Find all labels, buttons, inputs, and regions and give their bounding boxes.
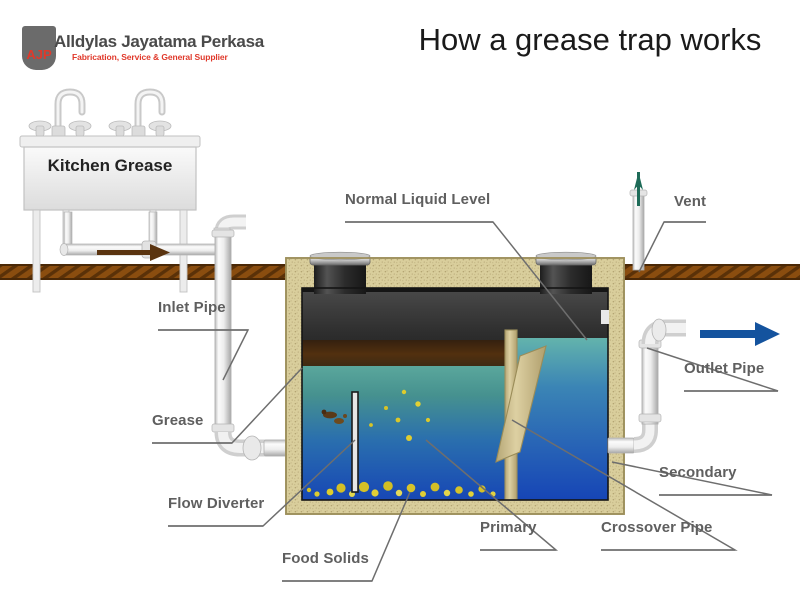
label-normal-liquid-level: Normal Liquid Level — [345, 192, 490, 207]
label-secondary: Secondary — [659, 465, 737, 480]
outlet-flow-arrow — [700, 322, 780, 346]
label-vent: Vent — [674, 194, 706, 209]
label-primary: Primary — [480, 520, 537, 535]
faucet-right-icon — [109, 92, 171, 138]
label-flow-diverter: Flow Diverter — [168, 496, 264, 511]
primary-water — [302, 366, 510, 500]
kitchen-grease-label: Kitchen Grease — [30, 156, 190, 176]
label-food-solids: Food Solids — [282, 551, 369, 566]
grease-trap-illustration — [0, 0, 800, 600]
label-crossover-pipe: Crossover Pipe — [601, 520, 712, 535]
label-grease: Grease — [152, 413, 203, 428]
label-inlet-pipe: Inlet Pipe — [158, 300, 226, 315]
grease-layer — [302, 340, 510, 368]
grease-trap-tank — [286, 252, 624, 514]
faucet-left-icon — [29, 92, 91, 138]
kitchen-sink — [20, 92, 227, 292]
label-outlet-pipe: Outlet Pipe — [684, 361, 764, 376]
vent-pipe-graphic — [630, 172, 647, 270]
diagram-canvas: AJP Alldylas Jayatama Perkasa Fabricatio… — [0, 0, 800, 600]
